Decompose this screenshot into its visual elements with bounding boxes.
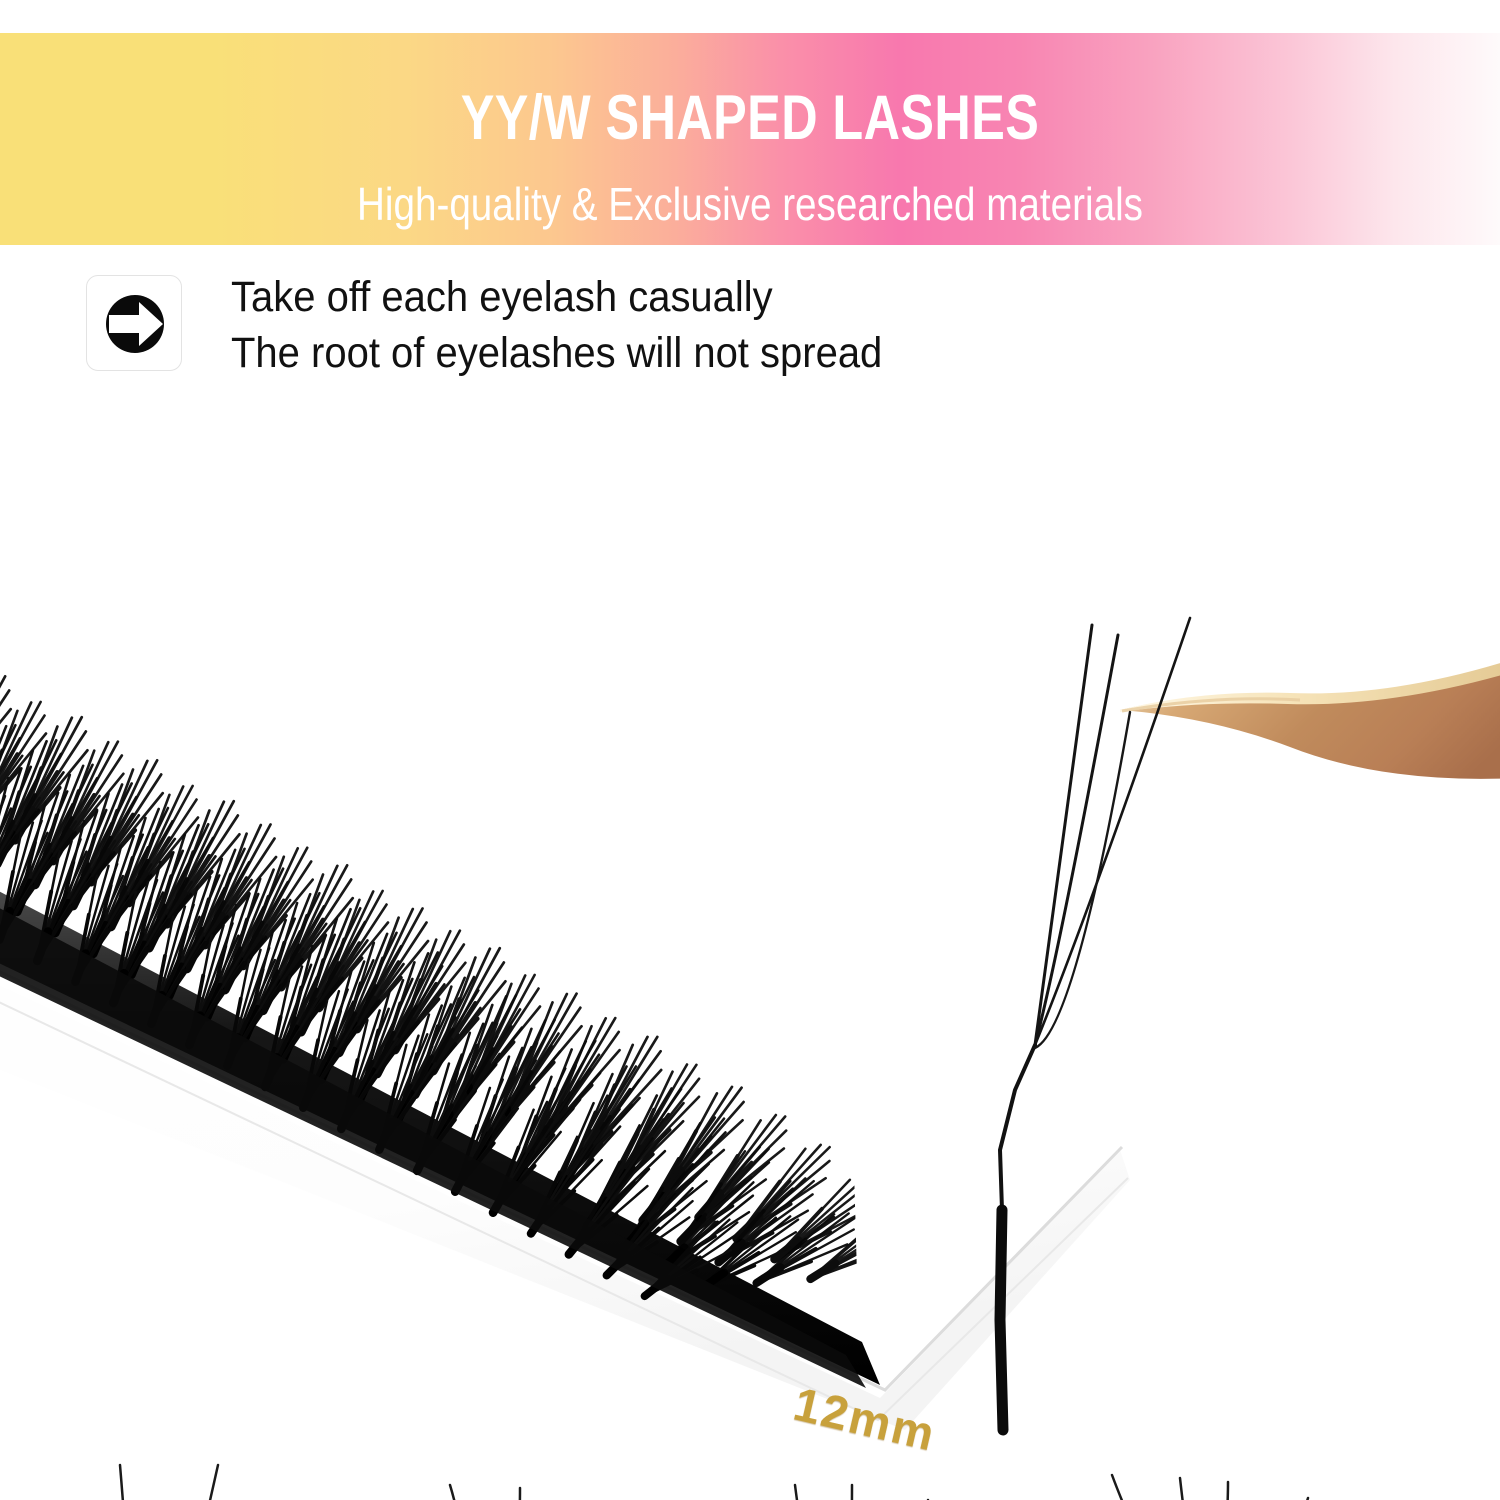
header-banner: YY/W SHAPED LASHES High-quality & Exclus… [0,33,1500,245]
callout-icon-box [86,275,182,371]
tweezer [1120,643,1500,779]
lash-tray [0,561,923,1309]
callout-line-2: The root of eyelashes will not spread [231,325,1115,381]
page-title: YY/W SHAPED LASHES [150,87,1350,150]
lash-photo-illustration [0,390,1500,1500]
fan-sample-4 [1112,1475,1462,1500]
page-subtitle: High-quality & Exclusive researched mate… [120,181,1380,227]
feature-callout: Take off each eyelash casually The root … [86,275,1186,387]
lash-strip-card [0,690,1130,1430]
fan-sample-3 [795,1485,1090,1500]
callout-line-1: Take off each eyelash casually [231,269,1115,325]
fan-sample-1 [120,1465,345,1500]
fan-sample-2 [450,1485,710,1500]
held-lash-fan [1000,618,1190,1430]
product-photo: 12mm [0,390,1500,1500]
callout-text: Take off each eyelash casually The root … [231,269,1181,381]
